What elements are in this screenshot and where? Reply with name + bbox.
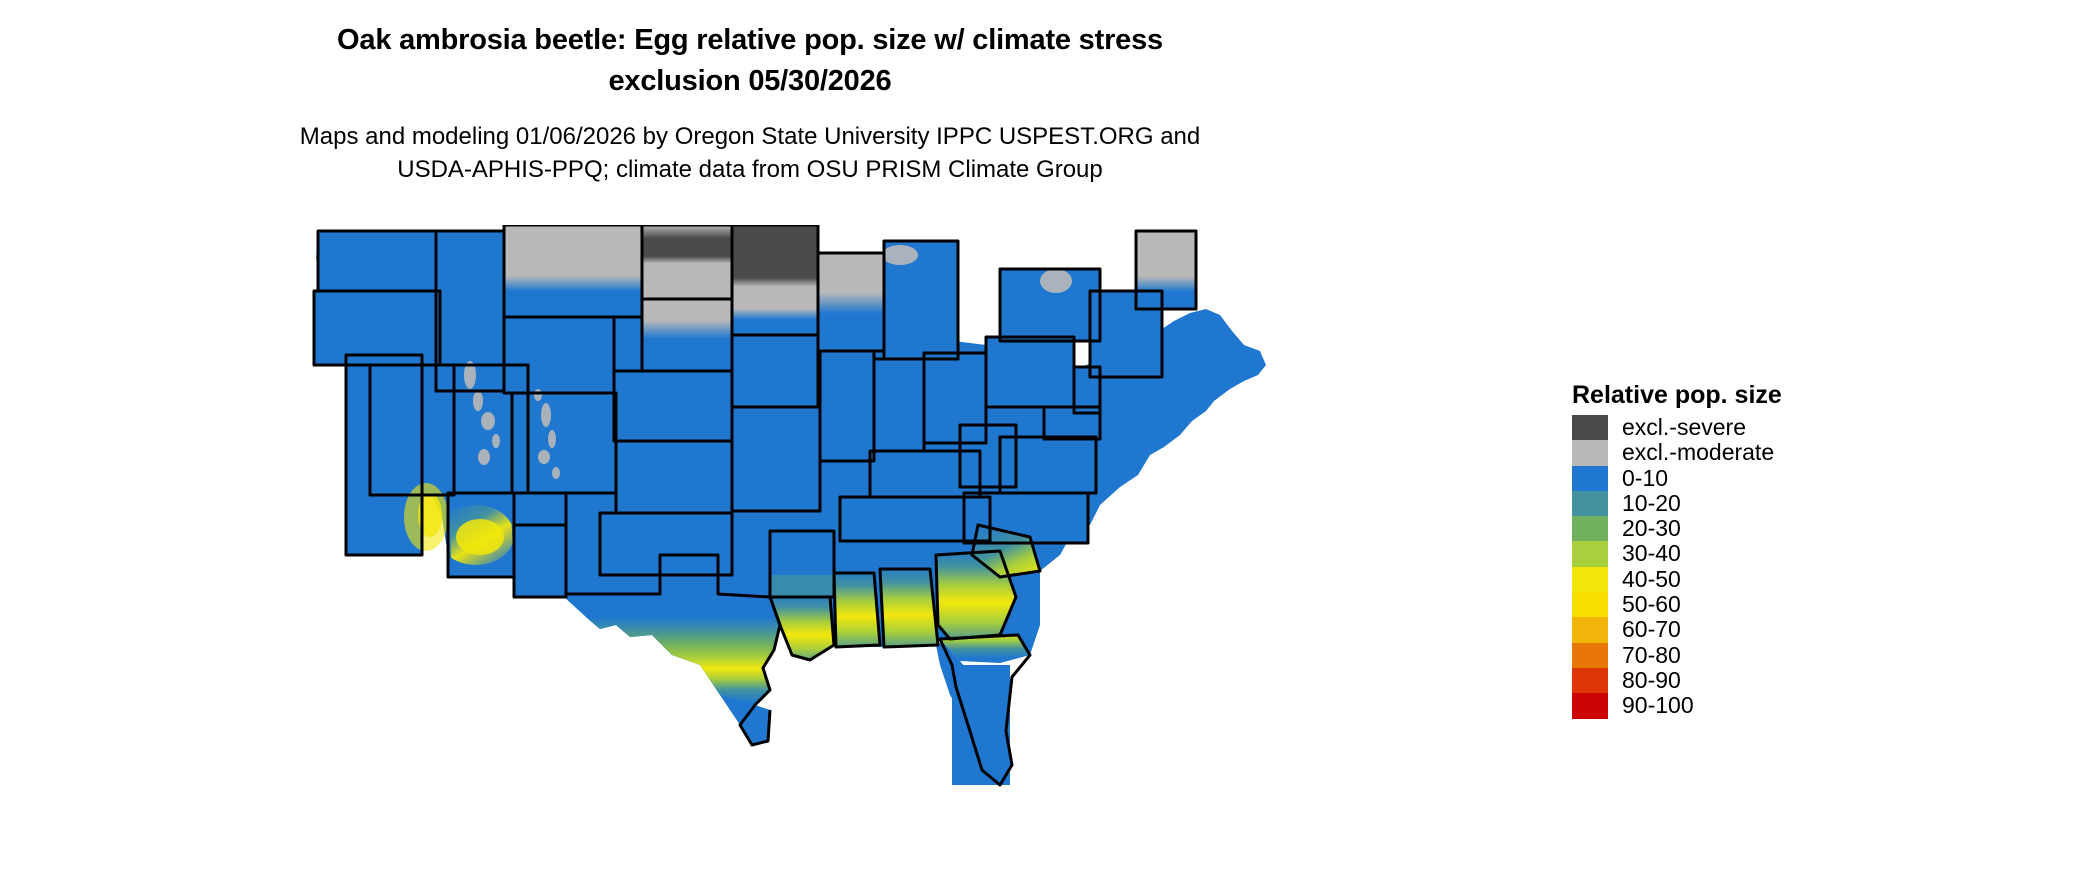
map-canvas[interactable] — [300, 225, 1550, 885]
state-fill-illinois — [820, 351, 874, 461]
title-block: Oak ambrosia beetle: Egg relative pop. s… — [0, 20, 1500, 102]
legend-swatch — [1572, 668, 1608, 693]
legend-label: 40-50 — [1622, 567, 1681, 592]
usa-choropleth-map[interactable] — [300, 225, 1550, 885]
legend-swatch — [1572, 516, 1608, 541]
legend-item: 60-70 — [1572, 617, 1952, 642]
state-fill-kansas — [616, 441, 732, 513]
legend-swatch — [1572, 617, 1608, 642]
state-fill-wisconsin — [818, 253, 884, 351]
state-fill-maine — [1136, 231, 1196, 309]
state-fill-northdakota — [642, 225, 732, 299]
state-fill-washington — [318, 231, 436, 291]
legend-item: 10-20 — [1572, 491, 1952, 516]
legend-swatch — [1572, 491, 1608, 516]
legend-swatch — [1572, 567, 1608, 592]
legend-label: 80-90 — [1622, 668, 1681, 693]
legend-swatch — [1572, 440, 1608, 465]
state-fill-newmexico — [514, 493, 566, 597]
legend-item: 80-90 — [1572, 668, 1952, 693]
legend-label: 70-80 — [1622, 643, 1681, 668]
legend-label: excl.-moderate — [1622, 440, 1774, 465]
legend-label: 30-40 — [1622, 541, 1681, 566]
legend-label: 10-20 — [1622, 491, 1681, 516]
legend-rows: excl.-severeexcl.-moderate0-1010-2020-30… — [1572, 415, 1952, 719]
legend-swatch — [1572, 466, 1608, 491]
state-fill-kentucky — [870, 451, 980, 497]
legend-item: 30-40 — [1572, 541, 1952, 566]
legend-label: excl.-severe — [1622, 415, 1746, 440]
subtitle-block: Maps and modeling 01/06/2026 by Oregon S… — [0, 120, 1500, 186]
legend-label: 0-10 — [1622, 466, 1668, 491]
state-fill-texas-gulfband — [560, 617, 790, 703]
legend-title: Relative pop. size — [1572, 380, 1952, 410]
legend-swatch — [1572, 592, 1608, 617]
legend-swatch — [1572, 415, 1608, 440]
state-fill-indiana — [874, 359, 924, 451]
state-fill-southdakota — [642, 299, 732, 371]
state-fill-wyoming — [504, 317, 614, 393]
legend-item: excl.-moderate — [1572, 440, 1952, 465]
legend-item: 90-100 — [1572, 693, 1952, 718]
legend-label: 90-100 — [1622, 693, 1694, 718]
legend-label: 50-60 — [1622, 592, 1681, 617]
state-fill-minnesota — [732, 225, 818, 335]
legend-swatch — [1572, 541, 1608, 566]
legend-item: 20-30 — [1572, 516, 1952, 541]
legend-item: 70-80 — [1572, 643, 1952, 668]
legend-item: 50-60 — [1572, 592, 1952, 617]
legend-label: 60-70 — [1622, 617, 1681, 642]
legend-item: 40-50 — [1572, 567, 1952, 592]
map-subtitle: Maps and modeling 01/06/2026 by Oregon S… — [0, 120, 1500, 186]
state-fills — [314, 225, 1196, 785]
legend-swatch — [1572, 643, 1608, 668]
state-fill-pennsylvania — [986, 337, 1074, 407]
legend-swatch — [1572, 693, 1608, 718]
state-fill-nebraska — [614, 371, 732, 441]
map-legend: Relative pop. size excl.-severeexcl.-mod… — [1572, 380, 1952, 719]
state-fill-missouri — [732, 407, 820, 511]
state-fill-montana — [504, 225, 642, 317]
page-title: Oak ambrosia beetle: Egg relative pop. s… — [0, 20, 1500, 102]
legend-item: 0-10 — [1572, 466, 1952, 491]
state-fill-virginia — [1000, 437, 1096, 493]
legend-item: excl.-severe — [1572, 415, 1952, 440]
hotspot-arizona-core — [456, 519, 504, 555]
state-fill-iowa — [732, 335, 818, 407]
legend-label: 20-30 — [1622, 516, 1681, 541]
